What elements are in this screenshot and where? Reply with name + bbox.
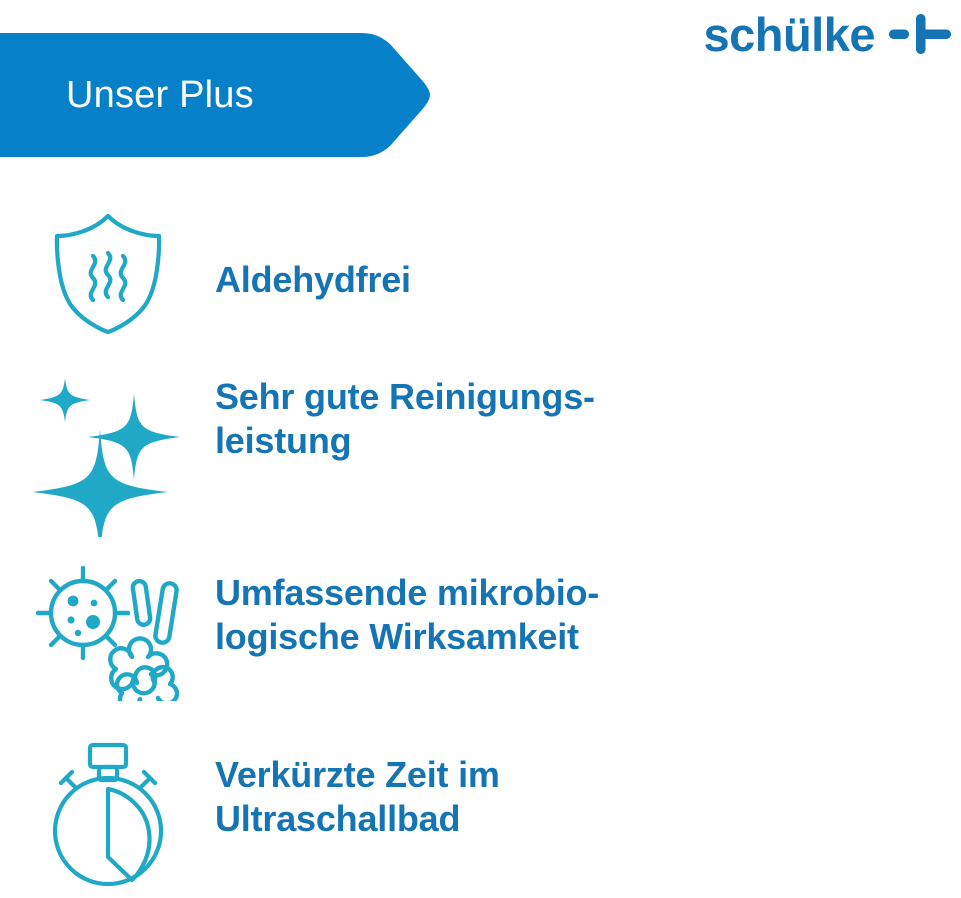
feature-item: Verkürzte Zeit im Ultraschallbad: [0, 729, 961, 894]
feature-label: Umfassende mikrobio- logische Wirksamkei…: [215, 551, 961, 659]
brand-logo-text: schülke: [703, 11, 875, 58]
feature-list: Aldehydfrei Sehr gute Reinigungs- leistu…: [0, 196, 961, 894]
feature-icon-slot: [0, 551, 215, 701]
feature-icon-slot: [0, 729, 215, 887]
sparkles-icon: [34, 372, 182, 537]
feature-item: Aldehydfrei: [0, 196, 961, 366]
unser-plus-banner: Unser Plus: [0, 33, 430, 157]
stopwatch-icon: [39, 739, 177, 887]
feature-label: Sehr gute Reinigungs- leistung: [215, 366, 961, 463]
feature-icon-slot: [0, 196, 215, 336]
feature-icon-slot: [0, 366, 215, 537]
brand-logo: schülke: [703, 10, 951, 58]
feature-label: Verkürzte Zeit im Ultraschallbad: [215, 729, 961, 841]
microbes-icon: [32, 565, 184, 701]
feature-label: Aldehydfrei: [215, 196, 961, 302]
feature-item: Sehr gute Reinigungs- leistung: [0, 366, 961, 551]
banner-title: Unser Plus: [66, 33, 254, 157]
feature-item: Umfassende mikrobio- logische Wirksamkei…: [0, 551, 961, 729]
dash-plus-logo-mark: [889, 10, 951, 58]
shield-vapor-icon: [49, 212, 167, 336]
